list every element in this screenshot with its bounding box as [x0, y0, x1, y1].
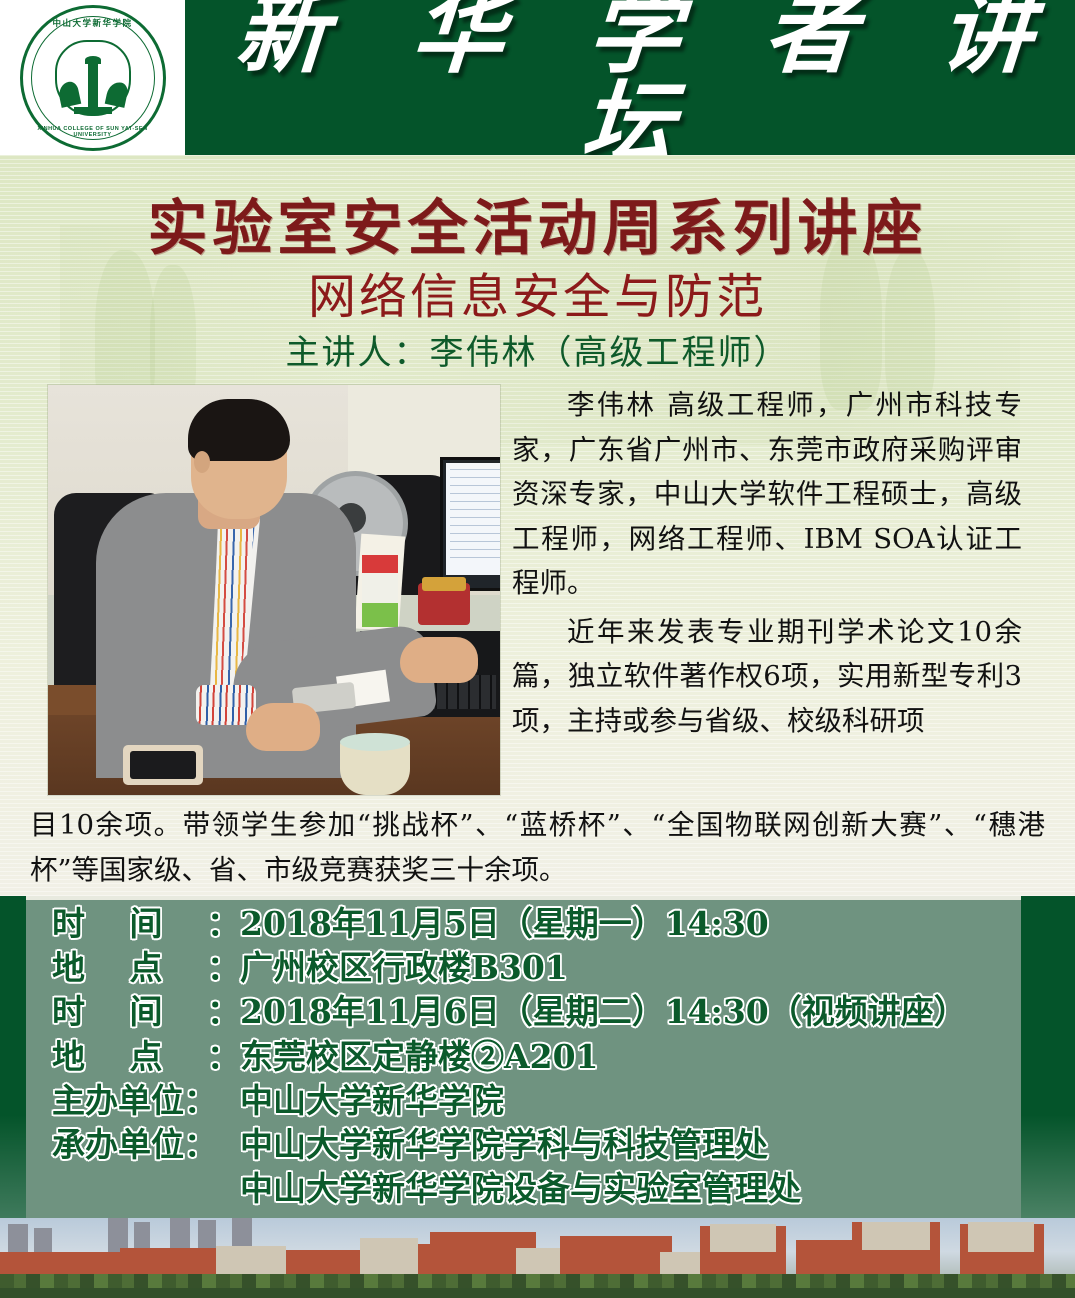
- photo-monitor-screen: [446, 463, 500, 575]
- detail-label: 地 点 ：: [52, 1035, 240, 1079]
- photo-person-cuff: [196, 685, 256, 725]
- event-details-section: 时 间 ： 2018年11月5日（星期一）14:30 地 点 ： 广州校区行政楼…: [0, 896, 1075, 1218]
- photo-person-hand-right: [400, 637, 478, 683]
- detail-value: 东莞校区定静楼②A201: [240, 1035, 1012, 1079]
- bio-paragraph-2: 近年来发表专业期刊学术论文10余篇，独立软件著作权6项，实用新型专利3项，主持或…: [512, 610, 1022, 744]
- details-right-bar: [1021, 896, 1075, 1218]
- speaker-photo: [48, 385, 500, 795]
- detail-label: 主办单位 ：: [52, 1079, 240, 1123]
- university-seal-icon: 中山大学新华学院 XINHUA COLLEGE OF SUN YAT-SEN U…: [20, 5, 166, 151]
- poster-root: 中山大学新华学院 XINHUA COLLEGE OF SUN YAT-SEN U…: [0, 0, 1075, 1298]
- lecture-series-title: 实验室安全活动周系列讲座: [0, 180, 1075, 267]
- photo-phone-screen: [130, 751, 196, 779]
- details-top-divider: [0, 896, 1075, 900]
- photo-person-hand-left: [246, 703, 320, 751]
- detail-row-venue-2: 地 点 ： 东莞校区定静楼②A201: [52, 1035, 1012, 1079]
- detail-value: 中山大学新华学院学科与科技管理处: [240, 1123, 1012, 1167]
- details-left-bar: [0, 896, 26, 1218]
- detail-value: 2018年11月5日（星期一）14:30: [240, 902, 1012, 946]
- detail-row-time-2: 时 间 ： 2018年11月6日（星期二）14:30（视频讲座）: [52, 990, 1012, 1034]
- seal-wing-right-icon: [104, 80, 129, 108]
- poster-header: 中山大学新华学院 XINHUA COLLEGE OF SUN YAT-SEN U…: [0, 0, 1075, 155]
- speaker-bio-right-column: 李伟林 高级工程师，广州市科技专家，广东省广州市、东莞市政府采购评审资深专家，中…: [512, 383, 1022, 747]
- detail-label: 时 间 ：: [52, 902, 240, 946]
- detail-row-time-1: 时 间 ： 2018年11月5日（星期一）14:30: [52, 902, 1012, 946]
- bio-paragraph-3: 目10余项。带领学生参加“挑战杯”、“蓝桥杯”、“全国物联网创新大赛”、“穗港杯…: [30, 803, 1045, 892]
- campus-building: [862, 1222, 930, 1250]
- seal-chinese-text: 中山大学新华学院: [23, 17, 163, 29]
- detail-row-organizer-2: 承办单位 ： 中山大学新华学院设备与实验室管理处: [52, 1167, 1012, 1211]
- poster-header-title: 新 华 学 者 讲 坛: [179, 0, 1075, 170]
- logo-container: 中山大学新华学院 XINHUA COLLEGE OF SUN YAT-SEN U…: [0, 0, 185, 155]
- speaker-bio-full-width: 目10余项。带领学生参加“挑战杯”、“蓝桥杯”、“全国物联网创新大赛”、“穗港杯…: [30, 803, 1045, 892]
- poster-body: 实验室安全活动周系列讲座 网络信息安全与防范 主讲人：李伟林（高级工程师）: [0, 155, 1075, 896]
- campus-skyline-photo: [0, 1218, 1075, 1298]
- seal-tower-icon: [88, 64, 98, 110]
- detail-label: 地 点 ：: [52, 946, 240, 990]
- campus-building: [710, 1224, 776, 1252]
- campus-ground: [0, 1288, 1075, 1298]
- detail-value: 中山大学新华学院: [240, 1079, 1012, 1123]
- seal-emblem: [55, 40, 131, 116]
- photo-book-pages: [362, 555, 398, 627]
- photo-tissue-box-lid: [422, 577, 466, 591]
- campus-building: [968, 1222, 1034, 1252]
- seal-wing-left-icon: [56, 80, 81, 108]
- lecture-topic-subtitle: 网络信息安全与防范: [0, 257, 1075, 327]
- detail-row-organizer: 承办单位 ： 中山大学新华学院学科与科技管理处: [52, 1123, 1012, 1167]
- detail-label: 时 间 ：: [52, 990, 240, 1034]
- detail-row-host: 主办单位 ： 中山大学新华学院: [52, 1079, 1012, 1123]
- detail-value: 中山大学新华学院设备与实验室管理处: [240, 1167, 1012, 1211]
- photo-person-ear: [194, 451, 210, 473]
- seal-english-text: XINHUA COLLEGE OF SUN YAT-SEN UNIVERSITY: [23, 126, 163, 138]
- photo-mug-rim: [340, 733, 410, 751]
- speaker-line: 主讲人：李伟林（高级工程师）: [0, 325, 1075, 374]
- bio-paragraph-1: 李伟林 高级工程师，广州市科技专家，广东省广州市、东莞市政府采购评审资深专家，中…: [512, 383, 1022, 606]
- detail-value: 2018年11月6日（星期二）14:30（视频讲座）: [240, 990, 1012, 1034]
- event-details-list: 时 间 ： 2018年11月5日（星期一）14:30 地 点 ： 广州校区行政楼…: [52, 902, 1012, 1212]
- detail-row-venue-1: 地 点 ： 广州校区行政楼B301: [52, 946, 1012, 990]
- detail-value: 广州校区行政楼B301: [240, 946, 1012, 990]
- detail-label: 承办单位 ：: [52, 1123, 240, 1167]
